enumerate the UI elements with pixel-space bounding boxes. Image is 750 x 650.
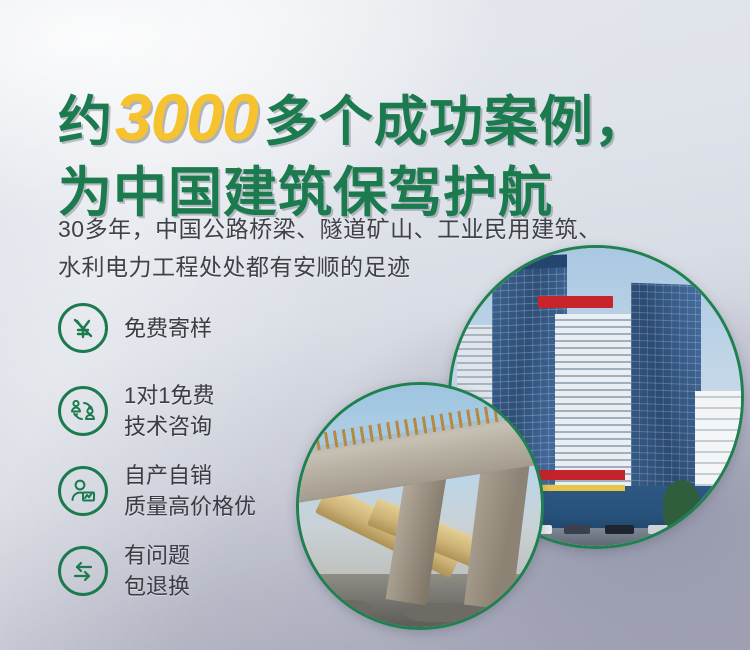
car [648,525,668,535]
headline-suffix: 多个成功案例， [264,95,649,149]
bridge-photo [296,382,544,630]
feature-label: 1对1免费 技术咨询 [124,380,214,442]
rooftop-red-sign [538,296,613,308]
rubble [405,603,478,622]
tree [663,480,701,531]
subheading-line-1: 30多年，中国公路桥梁、隧道矿山、工业民用建筑、 [58,210,602,248]
no-fee-yen-icon [58,303,108,353]
feature-label-line2: 包退换 [124,574,190,599]
headline-number: 3000 [113,84,264,150]
feature-label-line2: 技术咨询 [124,414,212,439]
person-chart-icon [58,466,108,516]
promo-banner: 约 3000 多个成功案例， 为中国建筑保驾护航 30多年，中国公路桥梁、隧道矿… [0,0,750,650]
feature-label-line1: 1对1免费 [124,383,214,408]
page-title: 约 3000 多个成功案例， [58,84,649,150]
exchange-arrows-icon [58,546,108,596]
car [605,525,634,535]
bridge-photo-content [299,385,541,627]
two-people-exchange-icon [58,386,108,436]
feature-label: 免费寄样 [124,313,212,344]
feature-list: 免费寄样 1对1免 [58,296,256,616]
rubble [318,600,371,617]
feature-item-return-exchange[interactable]: 有问题 包退换 [58,536,256,606]
feature-label-line1: 免费寄样 [124,316,212,341]
feature-label-line2: 质量高价格优 [124,494,256,519]
feature-label-line1: 自产自销 [124,463,212,488]
feature-item-self-production[interactable]: 自产自销 质量高价格优 [58,456,256,526]
feature-item-consultation[interactable]: 1对1免费 技术咨询 [58,376,256,446]
tower-glass-right [631,283,701,512]
headline-prefix: 约 [58,95,113,149]
car [564,525,590,535]
feature-label: 自产自销 质量高价格优 [124,460,256,522]
feature-item-free-sample[interactable]: 免费寄样 [58,296,256,360]
feature-label-line1: 有问题 [124,543,190,568]
feature-label: 有问题 包退换 [124,540,190,602]
